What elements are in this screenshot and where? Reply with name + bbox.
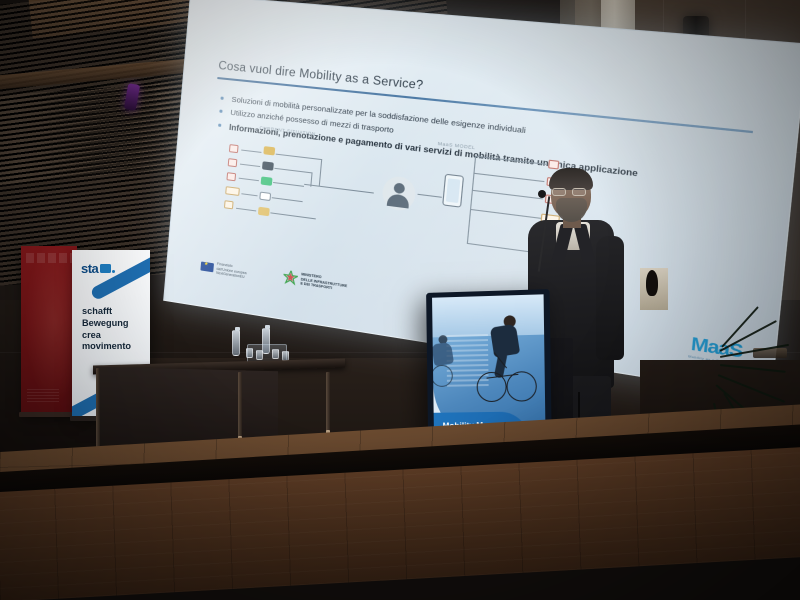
ticket-icon-4 [259,192,271,202]
eu-logo: Finanziato dall'Unione europea NextGener… [200,259,247,280]
sta-banner-logo: sta [81,261,111,276]
microphone-icon [538,190,546,198]
water-bottle [232,330,240,356]
user-avatar-icon [381,175,417,212]
wall-artwork [640,268,668,310]
speaker-hair [549,168,593,190]
sta-logo-mark-icon [100,264,111,273]
transport-icon-car [226,172,236,181]
transport-icon-walk [225,186,240,196]
italy-star-icon [283,270,299,286]
water-bottle [262,328,270,354]
drinking-glass [256,350,263,360]
transport-icon-train-2 [548,160,559,170]
transport-icon-train [229,144,239,153]
cyclist-secondary [433,330,473,393]
speaker-arm [596,236,624,360]
red-roll-up-banner [21,246,77,414]
conference-room-photo: Cosa vuol dire Mobility as a Service? So… [0,0,800,600]
sta-claim-de: schafft Bewegung [82,306,131,330]
ticket-icon-2 [262,161,274,170]
drinking-glass [246,348,253,358]
eu-flag-icon [200,262,214,273]
ticket-icon-5 [258,207,270,217]
cyclist-main [480,315,535,404]
ticket-icon-3 [261,176,273,185]
sta-logo-word: sta [81,261,98,276]
mit-logo: MINISTERO DELLE INFRASTRUTTURE E DEI TRA… [283,270,348,294]
transport-icon-bus [228,158,238,167]
transport-icon-bike [224,200,234,209]
mit-logo-text: MINISTERO DELLE INFRASTRUTTURE E DEI TRA… [300,272,348,293]
eu-logo-text: Finanziato dall'Unione europea NextGener… [216,262,247,280]
eyeglasses-icon [552,188,590,196]
sta-claim-it: crea movimento [82,330,131,354]
ticket-icon-1 [263,146,275,155]
drinking-glass [272,349,279,359]
sta-banner-claim: schafft Bewegung crea movimento [82,306,131,353]
smartphone-icon [442,174,464,208]
